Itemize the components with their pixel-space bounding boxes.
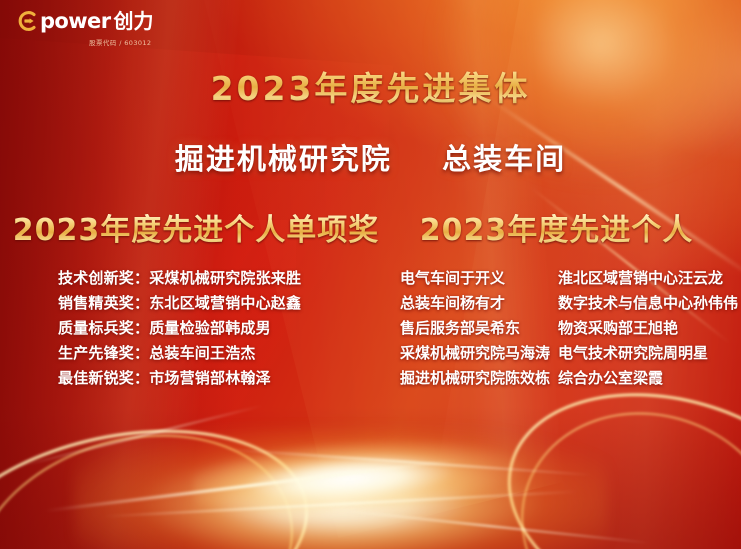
list-item: 掘进机械研究院陈效栋	[400, 371, 558, 386]
list-item: 质量标兵奖：质量检验部韩成男	[58, 321, 390, 336]
list-item: 物资采购部王旭艳	[558, 321, 741, 336]
list-item: 采煤机械研究院马海涛	[400, 346, 558, 361]
section-heading-left: 2023年度先进个人单项奖	[0, 214, 390, 249]
honored-team-1: 掘进机械研究院	[175, 142, 392, 176]
table-row: 电气车间于开义 淮北区域营销中心汪云龙	[400, 271, 741, 286]
list-item: 销售精英奖：东北区域营销中心赵鑫	[58, 296, 390, 311]
list-item: 售后服务部吴希东	[400, 321, 558, 336]
page-title: 2023年度先进集体	[0, 62, 741, 110]
list-item: 综合办公室梁霞	[558, 371, 741, 386]
list-item: 淮北区域营销中心汪云龙	[558, 271, 741, 286]
power-c-plug-icon	[16, 10, 38, 32]
logo-wordmark-cn: 创力	[113, 11, 153, 31]
section-heading-right: 2023年度先进个人	[390, 214, 741, 249]
list-item: 数字技术与信息中心孙伟伟	[558, 296, 741, 311]
list-item: 总装车间杨有才	[400, 296, 558, 311]
column-advanced-individuals: 2023年度先进个人 电气车间于开义 淮北区域营销中心汪云龙 总装车间杨有才 数…	[390, 214, 741, 396]
honored-team-2: 总装车间	[442, 142, 566, 176]
list-item: 技术创新奖：采煤机械研究院张来胜	[58, 271, 390, 286]
table-row: 采煤机械研究院马海涛 电气技术研究院周明星	[400, 346, 741, 361]
logo-row: power 创力	[16, 10, 153, 32]
stock-code-label: 股票代码 / 603012	[16, 37, 153, 47]
table-row: 掘进机械研究院陈效栋 综合办公室梁霞	[400, 371, 741, 386]
table-row: 总装车间杨有才 数字技术与信息中心孙伟伟	[400, 296, 741, 311]
list-item: 电气技术研究院周明星	[558, 346, 741, 361]
list-item: 生产先锋奖：总装车间王浩杰	[58, 346, 390, 361]
list-item: 电气车间于开义	[400, 271, 558, 286]
table-row: 售后服务部吴希东 物资采购部王旭艳	[400, 321, 741, 336]
company-logo: power 创力 股票代码 / 603012	[16, 10, 153, 47]
right-award-list: 电气车间于开义 淮北区域营销中心汪云龙 总装车间杨有才 数字技术与信息中心孙伟伟…	[390, 271, 741, 386]
honored-teams: 掘进机械研究院 总装车间	[0, 136, 741, 178]
award-poster: power 创力 股票代码 / 603012 2023年度先进集体 掘进机械研究…	[0, 0, 741, 549]
logo-wordmark: power	[40, 11, 110, 32]
bottom-light-swoosh	[0, 379, 741, 549]
left-award-list: 技术创新奖：采煤机械研究院张来胜 销售精英奖：东北区域营销中心赵鑫 质量标兵奖：…	[0, 271, 390, 386]
column-individual-special-awards: 2023年度先进个人单项奖 技术创新奖：采煤机械研究院张来胜 销售精英奖：东北区…	[0, 214, 390, 396]
list-item: 最佳新锐奖：市场营销部林翰泽	[58, 371, 390, 386]
award-columns: 2023年度先进个人单项奖 技术创新奖：采煤机械研究院张来胜 销售精英奖：东北区…	[0, 214, 741, 396]
